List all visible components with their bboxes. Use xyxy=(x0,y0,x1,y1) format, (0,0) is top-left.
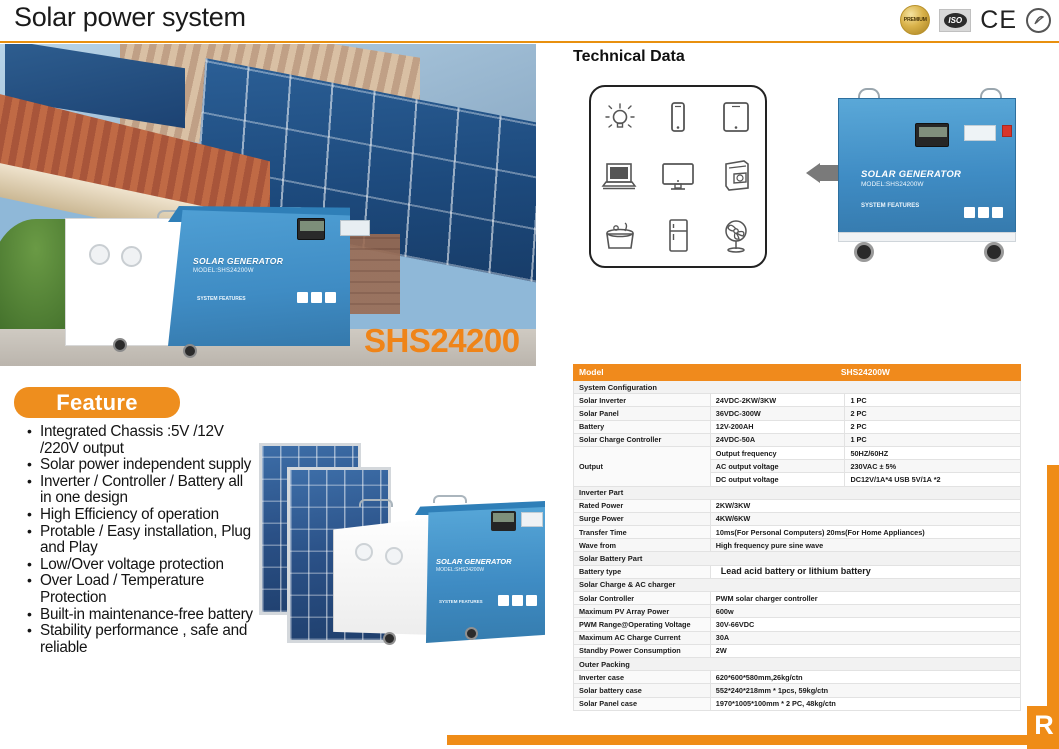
spec-key: Battery xyxy=(574,420,711,433)
tech-unit-wheel-right xyxy=(984,242,1004,262)
coffee-maker-icon xyxy=(718,158,754,194)
list-item: Inverter / Controller / Battery all in o… xyxy=(24,474,256,507)
spec-key: Solar Controller xyxy=(574,592,711,605)
page-header: Solar power system PREMIUM ISO CE xyxy=(0,0,1059,42)
rice-cooker-icon xyxy=(601,220,639,252)
table-row-section: Outer Packing xyxy=(574,657,1021,670)
lower-unit-lcd xyxy=(493,513,514,522)
battery-icon xyxy=(526,595,537,606)
spec-qty: 1 PC xyxy=(845,394,1021,407)
header-divider xyxy=(0,41,1059,43)
specification-table: Model SHS24200W System Configuration Sol… xyxy=(573,364,1021,711)
table-row: Surge Power 4KW/6KW xyxy=(574,512,1021,525)
house-icon xyxy=(297,292,308,303)
specification-table-body: Model SHS24200W System Configuration Sol… xyxy=(574,365,1021,711)
table-row: Solar Inverter 24VDC-2KW/3KW 1 PC xyxy=(574,394,1021,407)
table-row: Solar Charge Controller 24VDC-50A 1 PC xyxy=(574,433,1021,446)
spec-key: Rated Power xyxy=(574,499,711,512)
battery-icon xyxy=(992,207,1003,218)
brand-corner-mark: R xyxy=(1027,706,1059,749)
hero-unit-system-features-label: SYSTEM FEATURES xyxy=(197,296,246,302)
table-row: Solar battery case 552*240*218mm * 1pcs,… xyxy=(574,684,1021,697)
spec-value: 1970*1005*100mm * 2 PC, 48kg/ctn xyxy=(710,697,1020,710)
table-row: Maximum PV Array Power 600w xyxy=(574,605,1021,618)
spec-value: 4KW/6KW xyxy=(710,512,1020,525)
section-label: Outer Packing xyxy=(574,657,1021,670)
house-icon xyxy=(498,595,509,606)
spec-key: PWM Range@Operating Voltage xyxy=(574,618,711,631)
tech-unit-control-display xyxy=(915,123,949,147)
hero-unit-feature-icons xyxy=(297,292,336,303)
smartphone-icon xyxy=(661,100,695,134)
section-label: Solar Battery Part xyxy=(574,552,1021,565)
section-label: Inverter Part xyxy=(574,486,1021,499)
grid-icon xyxy=(311,292,322,303)
table-row: Standby Power Consumption 2W xyxy=(574,644,1021,657)
tech-unit-brand-label: SOLAR GENERATOR xyxy=(861,169,961,180)
section-label: System Configuration xyxy=(574,381,1021,394)
house-icon xyxy=(964,207,975,218)
spec-value: 10ms(For Personal Computers) 20ms(For Ho… xyxy=(710,526,1020,539)
spec-value: 36VDC-300W xyxy=(710,407,845,420)
list-item: Solar power independent supply xyxy=(24,457,256,474)
laptop-icon xyxy=(600,160,640,192)
tablet-icon xyxy=(717,100,755,134)
spec-value: 12V-200AH xyxy=(710,420,845,433)
spec-key: Maximum AC Charge Current xyxy=(574,631,711,644)
technical-product-image: SOLAR GENERATOR MODEL:SHS24200W SYSTEM F… xyxy=(832,82,1040,282)
spec-qty: 230VAC ± 5% xyxy=(845,460,1021,473)
table-row-section: Solar Battery Part xyxy=(574,552,1021,565)
spec-value: Output frequency xyxy=(710,446,845,459)
section-label: Solar Charge & AC charger xyxy=(574,578,1021,591)
hero-unit-model-label: MODEL:SHS24200W xyxy=(193,268,254,274)
lower-unit-fan-left xyxy=(355,543,373,561)
hero-unit-fan-right xyxy=(121,246,142,267)
iso-badge-label: ISO xyxy=(944,13,967,28)
lightbulb-icon xyxy=(603,100,637,134)
table-row: Wave from High frequency pure sine wave xyxy=(574,539,1021,552)
lower-unit-handle-right xyxy=(433,495,467,503)
hero-unit-brand-label: SOLAR GENERATOR xyxy=(193,256,283,266)
spec-key: Inverter case xyxy=(574,671,711,684)
lower-unit-model-label: MODEL:SHS24200W xyxy=(436,567,484,573)
spec-value: Lead acid battery or lithium battery xyxy=(710,565,1020,578)
hero-unit-sockets xyxy=(340,220,370,236)
certification-round-badge xyxy=(1026,8,1051,33)
spec-key: Maximum PV Array Power xyxy=(574,605,711,618)
spec-key: Battery type xyxy=(574,565,711,578)
tech-unit-lcd xyxy=(919,127,947,137)
hero-unit-lcd xyxy=(300,221,324,231)
list-item: Over Load / Temperature Protection xyxy=(24,573,256,606)
table-row: Solar Controller PWM solar charger contr… xyxy=(574,592,1021,605)
feature-heading-label: Feature xyxy=(56,390,138,416)
tech-unit-body: SOLAR GENERATOR MODEL:SHS24200W SYSTEM F… xyxy=(838,98,1016,238)
table-row: Battery 12V-200AH 2 PC xyxy=(574,420,1021,433)
grid-icon xyxy=(978,207,989,218)
spec-qty: 50HZ/60HZ xyxy=(845,446,1021,459)
hero-unit-wheel-right xyxy=(183,344,197,358)
tech-unit-system-features-label: SYSTEM FEATURES xyxy=(861,203,919,209)
lower-unit-wheel-left xyxy=(383,632,396,645)
tech-unit-base xyxy=(838,232,1016,242)
spec-value: AC output voltage xyxy=(710,460,845,473)
lower-unit-system-features-label: SYSTEM FEATURES xyxy=(439,599,483,604)
feature-heading-badge: Feature xyxy=(14,387,180,418)
table-row-section: Inverter Part xyxy=(574,486,1021,499)
spec-value: 552*240*218mm * 1pcs, 59kg/ctn xyxy=(710,684,1020,697)
hero-generator-unit: SOLAR GENERATOR MODEL:SHS24200W SYSTEM F… xyxy=(65,204,350,354)
spec-value: 600w xyxy=(710,605,1020,618)
spec-key: Surge Power xyxy=(574,512,711,525)
table-row: Output Output frequency 50HZ/60HZ xyxy=(574,446,1021,459)
table-row-section: Solar Charge & AC charger xyxy=(574,578,1021,591)
table-row: Solar Panel 36VDC-300W 2 PC xyxy=(574,407,1021,420)
bottom-accent-bar xyxy=(447,735,1059,745)
lower-unit-sockets xyxy=(521,512,543,527)
table-row: Inverter case 620*600*580mm,26kg/ctn xyxy=(574,671,1021,684)
monitor-icon xyxy=(658,160,698,192)
lower-unit-blue-front xyxy=(421,507,545,643)
list-item: High Efficiency of operation xyxy=(24,507,256,524)
battery-icon xyxy=(325,292,336,303)
technical-data-title: Technical Data xyxy=(573,48,685,66)
lower-product-photo: SOLAR GENERATOR MODEL:SHS24200W SYSTEM F… xyxy=(255,443,545,663)
tech-unit-sockets xyxy=(964,125,996,141)
lower-unit-wheel-right xyxy=(465,627,478,640)
table-row: Battery type Lead acid battery or lithiu… xyxy=(574,565,1021,578)
lower-unit-control-display xyxy=(491,511,516,531)
spec-qty: 2 PC xyxy=(845,420,1021,433)
spec-key: Solar Panel xyxy=(574,407,711,420)
table-row: Rated Power 2KW/3KW xyxy=(574,499,1021,512)
spec-value: High frequency pure sine wave xyxy=(710,539,1020,552)
table-row-section: System Configuration xyxy=(574,381,1021,394)
feature-list: Integrated Chassis :5V /12V /220V output… xyxy=(24,424,256,656)
lower-unit-fan-right xyxy=(385,547,403,565)
spec-key: Wave from xyxy=(574,539,711,552)
hero-model-name: SHS24200 xyxy=(364,322,520,360)
grid-icon xyxy=(512,595,523,606)
fan-icon xyxy=(718,218,754,254)
table-row: Maximum AC Charge Current 30A xyxy=(574,631,1021,644)
premium-seal-badge: PREMIUM xyxy=(900,5,930,35)
brand-corner-letter: R xyxy=(1034,712,1054,739)
hero-product-photo: SOLAR GENERATOR MODEL:SHS24200W SYSTEM F… xyxy=(0,44,536,366)
table-row: Solar Panel case 1970*1005*100mm * 2 PC,… xyxy=(574,697,1021,710)
list-item: Protable / Easy installation, Plug and P… xyxy=(24,524,256,557)
page-title: Solar power system xyxy=(14,2,246,33)
spec-value: 24VDC-50A xyxy=(710,433,845,446)
spec-value: 620*600*580mm,26kg/ctn xyxy=(710,671,1020,684)
tech-unit-power-button[interactable] xyxy=(1002,125,1012,137)
table-row-header: Model SHS24200W xyxy=(574,365,1021,381)
lower-unit-brand-label: SOLAR GENERATOR xyxy=(436,557,512,566)
tech-unit-feature-icons xyxy=(964,207,1003,218)
iso-badge: ISO xyxy=(939,9,971,32)
list-item: Stability performance , safe and reliabl… xyxy=(24,623,256,656)
list-item: Built-in maintenance-free battery xyxy=(24,607,256,624)
spec-key: Solar Charge Controller xyxy=(574,433,711,446)
premium-seal-label: PREMIUM xyxy=(904,17,927,23)
spec-key: Solar Inverter xyxy=(574,394,711,407)
spec-qty: DC12V/1A*4 USB 5V/1A *2 xyxy=(845,473,1021,486)
spec-key: Solar battery case xyxy=(574,684,711,697)
ce-mark-badge: CE xyxy=(980,8,1017,33)
lower-unit-feature-icons xyxy=(498,595,537,606)
refrigerator-icon xyxy=(662,218,694,254)
spec-qty: 1 PC xyxy=(845,433,1021,446)
tech-unit-wheel-left xyxy=(854,242,874,262)
hero-unit-control-display xyxy=(297,218,325,240)
lower-unit-handle-left xyxy=(359,499,393,507)
hero-unit-fan-left xyxy=(89,244,110,265)
list-item: Integrated Chassis :5V /12V /220V output xyxy=(24,424,256,457)
spec-value: 24VDC-2KW/3KW xyxy=(710,394,845,407)
spec-key: Solar Panel case xyxy=(574,697,711,710)
spec-qty: 2 PC xyxy=(845,407,1021,420)
certification-swirl-icon xyxy=(1032,13,1046,27)
spec-value: 2KW/3KW xyxy=(710,499,1020,512)
spec-key-output: Output xyxy=(574,446,711,486)
hero-unit-wheel-left xyxy=(113,338,127,352)
spec-value: 2W xyxy=(710,644,1020,657)
table-row: Transfer Time 10ms(For Personal Computer… xyxy=(574,526,1021,539)
spec-value: DC output voltage xyxy=(710,473,845,486)
list-item: Low/Over voltage protection xyxy=(24,557,256,574)
tech-unit-model-label: MODEL:SHS24200W xyxy=(861,181,924,188)
spec-header-value: SHS24200W xyxy=(710,365,1020,381)
spec-value: PWM solar charger controller xyxy=(710,592,1020,605)
spec-key: Standby Power Consumption xyxy=(574,644,711,657)
spec-key: Transfer Time xyxy=(574,526,711,539)
spec-value: 30A xyxy=(710,631,1020,644)
spec-value: 30V-66VDC xyxy=(710,618,1020,631)
appliance-compatibility-diagram xyxy=(589,85,767,268)
certification-badges: PREMIUM ISO CE xyxy=(900,5,1051,35)
table-row: PWM Range@Operating Voltage 30V-66VDC xyxy=(574,618,1021,631)
spec-header-key: Model xyxy=(574,365,711,381)
lower-generator-unit: SOLAR GENERATOR MODEL:SHS24200W SYSTEM F… xyxy=(333,495,545,645)
